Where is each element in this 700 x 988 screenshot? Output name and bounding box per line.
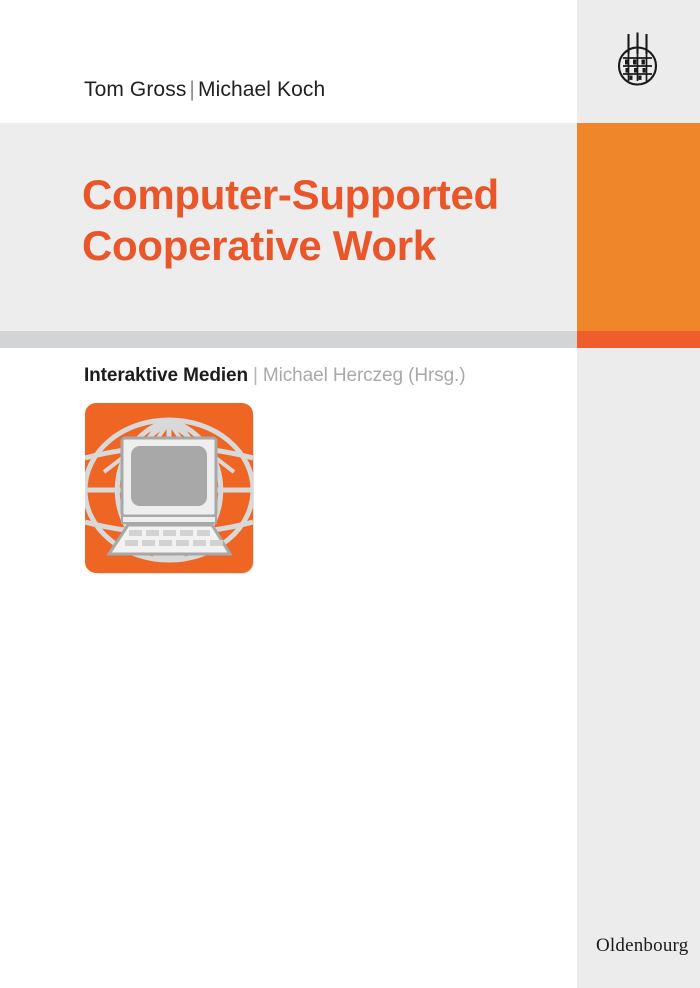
book-title: Computer-Supported Cooperative Work bbox=[82, 170, 552, 272]
authors-line: Tom Gross|Michael Koch bbox=[84, 78, 325, 102]
title-band-rule bbox=[0, 331, 577, 348]
series-separator: | bbox=[248, 365, 263, 386]
book-title-line-1: Computer-Supported bbox=[82, 170, 552, 221]
author-second: Michael Koch bbox=[198, 78, 325, 101]
publisher-name: Oldenbourg bbox=[596, 935, 688, 957]
author-first: Tom Gross bbox=[84, 78, 186, 101]
book-title-line-2: Cooperative Work bbox=[82, 221, 552, 272]
oldenbourg-logo-icon bbox=[610, 28, 665, 90]
right-orange-band bbox=[577, 123, 700, 331]
series-name: Interaktive Medien bbox=[84, 365, 248, 386]
computer-globe-icon bbox=[84, 402, 254, 574]
book-cover: Tom Gross|Michael Koch Computer-Supporte… bbox=[0, 0, 700, 988]
right-orange-accent-strip bbox=[577, 331, 700, 348]
series-editor: Michael Herczeg (Hrsg.) bbox=[263, 365, 466, 386]
series-line: Interaktive Medien|Michael Herczeg (Hrsg… bbox=[84, 365, 465, 387]
author-separator: | bbox=[186, 78, 198, 101]
